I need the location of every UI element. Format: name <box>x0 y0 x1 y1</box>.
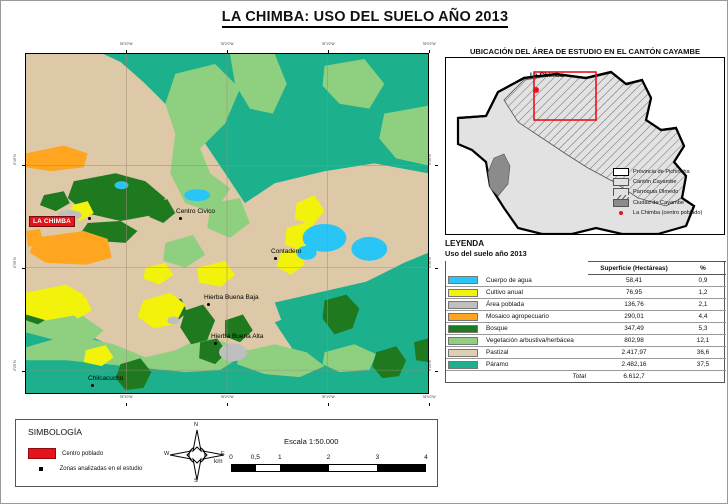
row-swatch-bosque <box>446 323 484 335</box>
inset-study-area-label: La Chimba <box>530 72 564 79</box>
row-pct: 4,4 <box>680 311 726 323</box>
row-area: 802,98 <box>588 335 680 347</box>
landuse-table: Superficie (Hectáreas) % Cuerpo de agua … <box>446 261 726 382</box>
centro-poblado-label: Centro poblado <box>62 451 103 457</box>
inset-legend-item-ciudad: Ciudad de Cayambe <box>613 199 721 207</box>
place-label-contadero: Contadero <box>271 248 301 255</box>
inset-legend: Provincia de Pichincha Cantón Cayambe Pa… <box>613 168 721 219</box>
map-frame[interactable]: Centro CivicoContaderoHierba Buena BajaH… <box>25 53 429 394</box>
scale-tick-labels: 0 0,5 1 2 3 4 <box>231 454 426 464</box>
row-pct: 37,5 <box>680 359 726 371</box>
row-name: Cultivo anual <box>484 287 588 299</box>
row-pct: 5,3 <box>680 323 726 335</box>
simbologia-title: SIMBOLOGÍA <box>28 427 82 437</box>
row-area: 58,41 <box>588 275 680 287</box>
inset-legend-item-parroquia: Parroquia Olmedo <box>613 188 721 196</box>
total-pct <box>680 371 726 383</box>
ciudad-swatch-icon <box>613 199 629 207</box>
leyenda-title: LEYENDA <box>445 239 725 248</box>
lontick-top-2: 78°1'0"W <box>321 42 334 46</box>
lontick-bottom-0: 78°3'0"W <box>119 395 132 399</box>
scale-label: Escala 1:50.000 <box>284 437 338 446</box>
lattick-left-1: 0°3'0"N <box>13 257 17 268</box>
parroquia-swatch-icon <box>613 188 629 196</box>
row-name: Páramo <box>484 359 588 371</box>
row-name: Bosque <box>484 323 588 335</box>
parroquia-label: Parroquia Olmedo <box>633 189 678 195</box>
row-pct: 36,6 <box>680 347 726 359</box>
inset-legend-item-provincia: Provincia de Pichincha <box>613 168 721 176</box>
inset-legend-item-la-chimba: La Chimba (centro poblado) <box>613 209 721 217</box>
compass-east-label: E <box>221 451 225 457</box>
place-label-hierba-buena-alta: Hierba Buena Alta <box>211 333 263 340</box>
row-pct: 1,2 <box>680 287 726 299</box>
provincia-label: Provincia de Pichincha <box>633 169 690 175</box>
scale-tick-3: 2 <box>327 454 331 461</box>
inset-legend-item-canton: Cantón Cayambe <box>613 178 721 186</box>
row-swatch-cuerpo-de-agua <box>446 275 484 287</box>
inset-title: UBICACIÓN DEL ÁREA DE ESTUDIO EN EL CANT… <box>445 47 725 56</box>
la-chimba-map-label: LA CHIMBA <box>29 216 75 227</box>
simbologia-item-zonas: Zonas analizadas en el estudio <box>28 466 142 472</box>
canton-swatch-icon <box>613 178 629 186</box>
row-area: 2.482,16 <box>588 359 680 371</box>
row-name: Cuerpo de agua <box>484 275 588 287</box>
th-area: Superficie (Hectáreas) <box>588 262 680 275</box>
map-lon-axis-top: 78°3'0"W78°2'0"W78°1'0"W78°0'0"W <box>14 41 438 53</box>
row-swatch-area-poblada <box>446 299 484 311</box>
leyenda-panel: LEYENDA Uso del suelo año 2013 Superfici… <box>445 239 725 383</box>
lon-tickmark-1 <box>227 403 228 406</box>
th-swatch <box>446 262 484 275</box>
scale-bar: 0 0,5 1 2 3 4 <box>231 454 426 472</box>
place-label-centro-civico: Centro Civico <box>176 208 215 215</box>
zonas-dot-icon <box>39 467 43 471</box>
row-swatch-cultivo-anual <box>446 287 484 299</box>
scale-tick-4: 3 <box>375 454 379 461</box>
lontick-top-0: 78°3'0"W <box>119 42 132 46</box>
row-swatch-pastizal <box>446 347 484 359</box>
map-lat-axis-left: 0°4'0"N0°3'0"N0°2'0"N <box>14 41 25 406</box>
table-row: Vegetación arbustiva/herbácea 802,98 12,… <box>446 335 726 347</box>
lat-tickmark-1 <box>435 268 438 269</box>
zonas-label: Zonas analizadas en el estudio <box>60 466 143 472</box>
scale-tick-1: 0,5 <box>251 454 260 461</box>
row-name: Vegetación arbustiva/herbácea <box>484 335 588 347</box>
row-pct: 12,1 <box>680 335 726 347</box>
th-pct: % <box>680 262 726 275</box>
row-swatch-mosaico-agropecuario <box>446 311 484 323</box>
row-pct: 2,1 <box>680 299 726 311</box>
row-swatch-paramo <box>446 359 484 371</box>
table-row: Mosaico agropecuario 290,01 4,4 <box>446 311 726 323</box>
leyenda-subtitle: Uso del suelo año 2013 <box>445 249 725 258</box>
table-total-row: Total 6.612,7 <box>446 371 726 383</box>
lontick-top-1: 78°2'0"W <box>220 42 233 46</box>
place-label-hierba-buena-baja: Hierba Buena Baja <box>204 294 259 301</box>
map-landuse-canvas <box>26 54 428 393</box>
simbologia-panel: SIMBOLOGÍA Centro poblado Zonas analizad… <box>15 419 438 487</box>
row-area: 136,76 <box>588 299 680 311</box>
table-row: Bosque 347,49 5,3 <box>446 323 726 335</box>
scale-tick-5: 4 <box>424 454 428 461</box>
table-row: Páramo 2.482,16 37,5 <box>446 359 726 371</box>
row-pct: 0,9 <box>680 275 726 287</box>
compass-rose: N S E W <box>166 426 228 484</box>
scale-bar-graphic <box>231 464 426 472</box>
table-row: Área poblada 136,76 2,1 <box>446 299 726 311</box>
row-area: 2.417,97 <box>588 347 680 359</box>
total-area: 6.612,7 <box>588 371 680 383</box>
row-area: 290,01 <box>588 311 680 323</box>
table-row: Cuerpo de agua 58,41 0,9 <box>446 275 726 287</box>
table-header-row: Superficie (Hectáreas) % <box>446 262 726 275</box>
compass-west-label: W <box>164 451 169 457</box>
table-row: Cultivo anual 76,95 1,2 <box>446 287 726 299</box>
lattick-left-0: 0°4'0"N <box>13 154 17 165</box>
lat-tickmark-0 <box>435 165 438 166</box>
total-label: Total <box>484 371 588 383</box>
map-page: LA CHIMBA: USO DEL SUELO AÑO 2013 78°3'0… <box>0 0 728 504</box>
total-swatch-spacer <box>446 371 484 383</box>
lattick-left-2: 0°2'0"N <box>13 360 17 371</box>
page-title-text: LA CHIMBA: USO DEL SUELO AÑO 2013 <box>222 9 508 28</box>
centro-poblado-swatch-icon <box>28 448 56 459</box>
map-lat-axis-right: 0°4'0"N0°3'0"N0°2'0"N <box>429 41 438 406</box>
row-area: 76,95 <box>588 287 680 299</box>
scale-tick-2: 1 <box>278 454 282 461</box>
ciudad-label: Ciudad de Cayambe <box>633 200 684 206</box>
compass-north-label: N <box>194 422 198 428</box>
lontick-bottom-2: 78°1'0"W <box>321 395 334 399</box>
row-name: Pastizal <box>484 347 588 359</box>
table-row: Pastizal 2.417,97 36,6 <box>446 347 726 359</box>
provincia-swatch-icon <box>613 168 629 176</box>
compass-rose-icon <box>166 426 228 484</box>
place-label-chilcacucho: Chilcacucho <box>88 375 123 382</box>
compass-south-label: S <box>194 478 198 484</box>
lontick-bottom-1: 78°2'0"W <box>220 395 233 399</box>
row-area: 347,49 <box>588 323 680 335</box>
scale-unit-label: km <box>214 458 223 465</box>
canton-label: Cantón Cayambe <box>633 179 677 185</box>
scale-tick-0: 0 <box>229 454 233 461</box>
table-body: Cuerpo de agua 58,41 0,9 Cultivo anual 7… <box>446 275 726 383</box>
map-lon-axis-bottom: 78°3'0"W78°2'0"W78°1'0"W78°0'0"W <box>14 394 438 406</box>
red-point-icon <box>613 209 629 217</box>
lon-tickmark-0 <box>126 403 127 406</box>
page-title: LA CHIMBA: USO DEL SUELO AÑO 2013 <box>1 9 728 25</box>
row-name: Mosaico agropecuario <box>484 311 588 323</box>
row-swatch-vegetacion-arbustiva <box>446 335 484 347</box>
th-name <box>484 262 588 275</box>
main-map: 78°3'0"W78°2'0"W78°1'0"W78°0'0"W 78°3'0"… <box>14 41 438 406</box>
lon-tickmark-2 <box>328 403 329 406</box>
lat-tickmark-2 <box>435 371 438 372</box>
la-chimba-label: La Chimba (centro poblado) <box>633 210 702 216</box>
row-name: Área poblada <box>484 299 588 311</box>
simbologia-item-centro-poblado: Centro poblado <box>28 448 103 459</box>
